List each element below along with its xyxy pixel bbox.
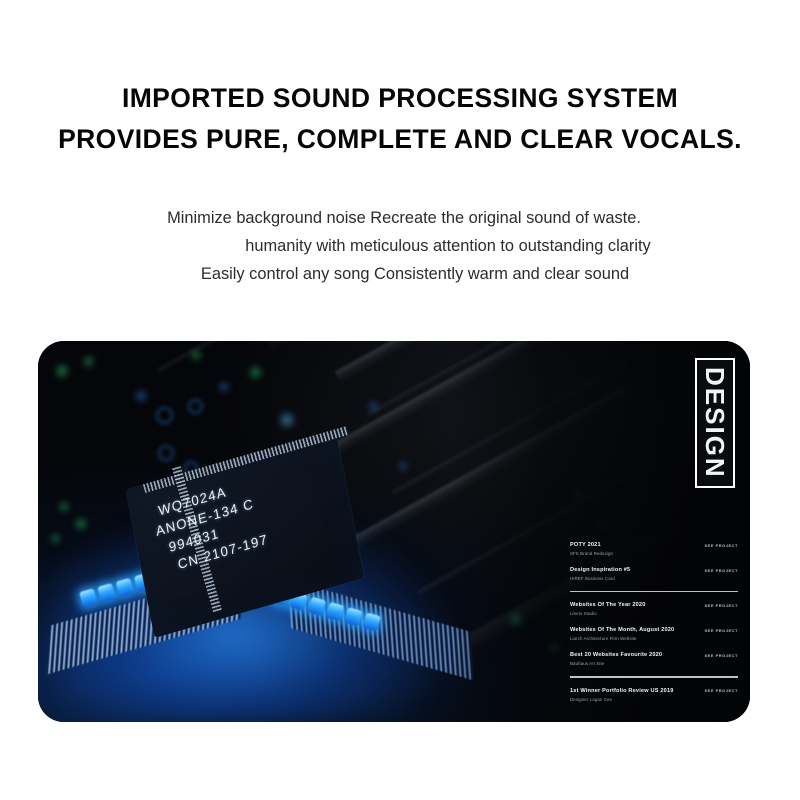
processor-chip: WQ7024A ANONE-134 C 994031 CN 2107-197 bbox=[96, 449, 426, 689]
list-item[interactable]: Best 20 Websites Favourite 2020 Bauhaus … bbox=[570, 651, 738, 667]
list-item-subtitle: Bauhaus Art Site bbox=[570, 660, 662, 667]
list-item-subtitle: Liarch Architecture Firm Website bbox=[570, 635, 674, 642]
product-marketing-page: IMPORTED SOUND PROCESSING SYSTEM PROVIDE… bbox=[0, 0, 800, 800]
page-subcopy-line-3: Easily control any song Consistently war… bbox=[0, 260, 800, 288]
list-item-title: Websites Of The Month, August 2020 bbox=[570, 626, 674, 634]
list-item-title: Best 20 Websites Favourite 2020 bbox=[570, 651, 662, 659]
list-item[interactable]: 1st Winner Portfolio Review US 2019 Desi… bbox=[570, 687, 738, 703]
list-item[interactable]: Websites Of The Month, August 2020 Liarc… bbox=[570, 626, 738, 642]
page-subcopy: Minimize background noise Recreate the o… bbox=[0, 204, 800, 288]
portfolio-list: POTY 2021 SFK Brand Redesign SEE PROJECT… bbox=[570, 541, 738, 712]
list-item[interactable]: Websites Of The Year 2020 Lineio Studio … bbox=[570, 601, 738, 617]
list-item-subtitle: SFK Brand Redesign bbox=[570, 550, 613, 557]
list-divider bbox=[570, 591, 738, 592]
list-item-title: 1st Winner Portfolio Review US 2019 bbox=[570, 687, 674, 695]
see-project-link[interactable]: SEE PROJECT bbox=[704, 626, 738, 633]
list-item-subtitle: HIREF Business Card bbox=[570, 575, 630, 582]
design-badge-label: DESIGN bbox=[702, 367, 728, 479]
design-badge: DESIGN bbox=[695, 358, 735, 488]
list-item[interactable]: Design Inspiration #5 HIREF Business Car… bbox=[570, 566, 738, 582]
see-project-link[interactable]: SEE PROJECT bbox=[704, 687, 738, 694]
list-item-title: Websites Of The Year 2020 bbox=[570, 601, 646, 609]
hero-image: WQ7024A ANONE-134 C 994031 CN 2107-197 D… bbox=[38, 341, 750, 722]
see-project-link[interactable]: SEE PROJECT bbox=[704, 566, 738, 573]
list-item-subtitle: Designer Logan Cee bbox=[570, 696, 674, 703]
list-item-title: Design Inspiration #5 bbox=[570, 566, 630, 574]
page-title-line-2: PROVIDES PURE, COMPLETE AND CLEAR VOCALS… bbox=[0, 119, 800, 160]
list-divider bbox=[570, 676, 738, 677]
list-item[interactable]: POTY 2021 SFK Brand Redesign SEE PROJECT bbox=[570, 541, 738, 557]
page-title: IMPORTED SOUND PROCESSING SYSTEM PROVIDE… bbox=[0, 78, 800, 160]
see-project-link[interactable]: SEE PROJECT bbox=[704, 541, 738, 548]
list-item-title: POTY 2021 bbox=[570, 541, 613, 549]
page-subcopy-line-2: humanity with meticulous attention to ou… bbox=[0, 232, 800, 260]
see-project-link[interactable]: SEE PROJECT bbox=[704, 601, 738, 608]
list-item-subtitle: Lineio Studio bbox=[570, 610, 646, 617]
page-title-line-1: IMPORTED SOUND PROCESSING SYSTEM bbox=[0, 78, 800, 119]
page-subcopy-line-1: Minimize background noise Recreate the o… bbox=[0, 204, 800, 232]
see-project-link[interactable]: SEE PROJECT bbox=[704, 651, 738, 658]
